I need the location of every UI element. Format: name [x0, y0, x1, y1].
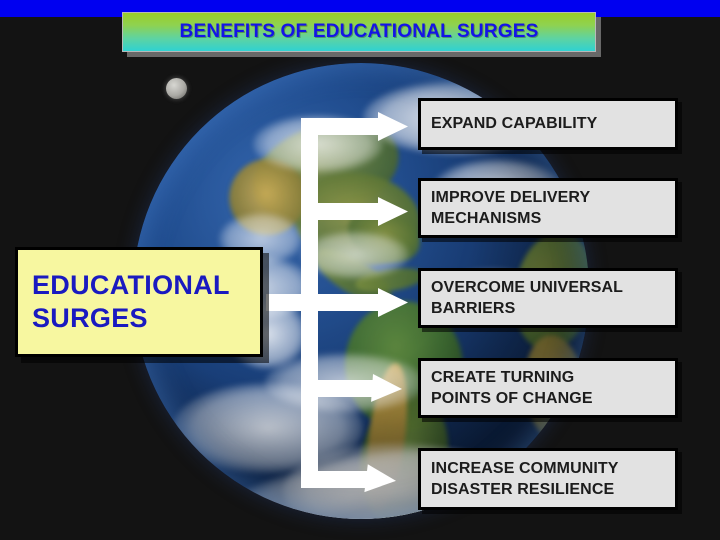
benefit-line: OVERCOME UNIVERSAL [431, 277, 675, 298]
source-label-line-2: SURGES [32, 302, 260, 335]
page-title: BENEFITS OF EDUCATIONAL SURGES [180, 21, 539, 43]
title-banner: BENEFITS OF EDUCATIONAL SURGES [122, 12, 596, 52]
benefit-line: INCREASE COMMUNITY [431, 458, 675, 479]
slide-canvas: BENEFITS OF EDUCATIONAL SURGES [0, 0, 720, 540]
benefit-line: EXPAND CAPABILITY [431, 113, 675, 134]
source-label-line-1: EDUCATIONAL [32, 269, 260, 302]
benefit-line: IMPROVE DELIVERY [431, 187, 675, 208]
benefit-box-expand-capability[interactable]: EXPAND CAPABILITY [418, 98, 678, 150]
benefit-box-improve-delivery-mechanisms[interactable]: IMPROVE DELIVERY MECHANISMS [418, 178, 678, 238]
benefit-line: POINTS OF CHANGE [431, 388, 675, 409]
benefit-box-increase-disaster-resilience[interactable]: INCREASE COMMUNITY DISASTER RESILIENCE [418, 448, 678, 510]
benefit-box-overcome-universal-barriers[interactable]: OVERCOME UNIVERSAL BARRIERS [418, 268, 678, 328]
source-box-educational-surges[interactable]: EDUCATIONAL SURGES [15, 247, 263, 357]
benefit-line: BARRIERS [431, 298, 675, 319]
benefit-line: CREATE TURNING [431, 367, 675, 388]
moon-icon [166, 78, 187, 99]
benefit-line: DISASTER RESILIENCE [431, 479, 675, 500]
benefit-box-create-turning-points[interactable]: CREATE TURNING POINTS OF CHANGE [418, 358, 678, 418]
benefit-line: MECHANISMS [431, 208, 675, 229]
